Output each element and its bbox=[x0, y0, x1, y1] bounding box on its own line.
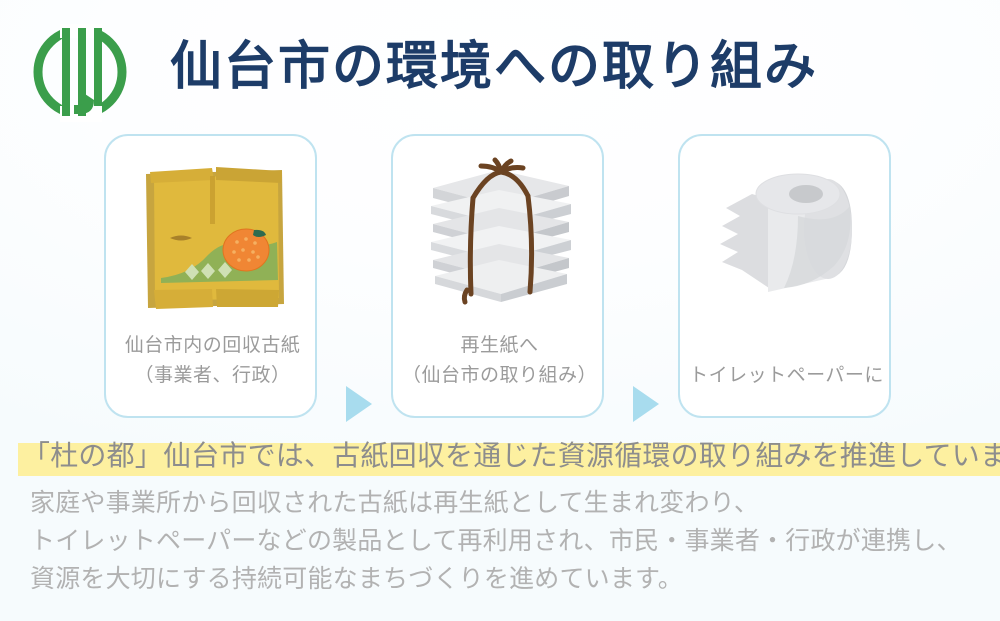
sendai-city-logo bbox=[26, 22, 134, 122]
body-paragraph-line-1: 家庭や事業所から回収された古紙は再生紙として生まれ変わり、 bbox=[30, 484, 980, 522]
flow-card-caption-line2: （事業者、行政） bbox=[106, 360, 319, 390]
flow-card-caption-line1: 仙台市内の回収古紙 bbox=[125, 334, 301, 356]
flow-card-caption: 仙台市内の回収古紙 （事業者、行政） bbox=[106, 330, 319, 390]
flow-arrow-1-icon bbox=[340, 382, 376, 426]
cardboard-box-illustration bbox=[106, 150, 319, 330]
page-header: 仙台市の環境への取り組み bbox=[0, 0, 1000, 130]
body-paragraph-line-2: トイレットペーパーなどの製品として再利用され、市民・事業者・行政が連携し、 bbox=[30, 522, 980, 560]
flow-card-caption-line1: 再生紙へ bbox=[460, 334, 538, 356]
process-flow: 仙台市内の回収古紙 （事業者、行政） bbox=[0, 134, 1000, 422]
flow-card-recycled-paper[interactable]: 再生紙へ （仙台市の取り組み） bbox=[391, 134, 604, 418]
flow-card-caption-line2: （仙台市の取り組み） bbox=[393, 360, 606, 390]
toilet-paper-roll-illustration bbox=[680, 150, 893, 330]
body-paragraph-line-3: 資源を大切にする持続可能なまちづくりを進めています。 bbox=[30, 560, 980, 598]
flow-card-caption: 再生紙へ （仙台市の取り組み） bbox=[393, 330, 606, 390]
flow-card-toilet-paper[interactable]: トイレットペーパーに bbox=[678, 134, 891, 418]
flow-card-collected-paper[interactable]: 仙台市内の回収古紙 （事業者、行政） bbox=[104, 134, 317, 418]
flow-card-caption-line1: トイレットペーパーに bbox=[689, 364, 884, 386]
flow-card-caption: トイレットペーパーに bbox=[680, 360, 893, 390]
bundled-paper-stack-illustration bbox=[393, 150, 606, 330]
flow-arrow-2-icon bbox=[627, 382, 663, 426]
highlight-statement-row: 「杜の都」仙台市では、古紙回収を通じた資源循環の取り組みを推進しています bbox=[0, 436, 1000, 478]
highlight-statement: 「杜の都」仙台市では、古紙回収を通じた資源循環の取り組みを推進しています bbox=[18, 436, 1000, 476]
infographic-page: 仙台市の環境への取り組み bbox=[0, 0, 1000, 621]
page-title: 仙台市の環境への取り組み bbox=[170, 34, 818, 100]
body-paragraph: 家庭や事業所から回収された古紙は再生紙として生まれ変わり、 トイレットペーパーな… bbox=[30, 484, 980, 598]
